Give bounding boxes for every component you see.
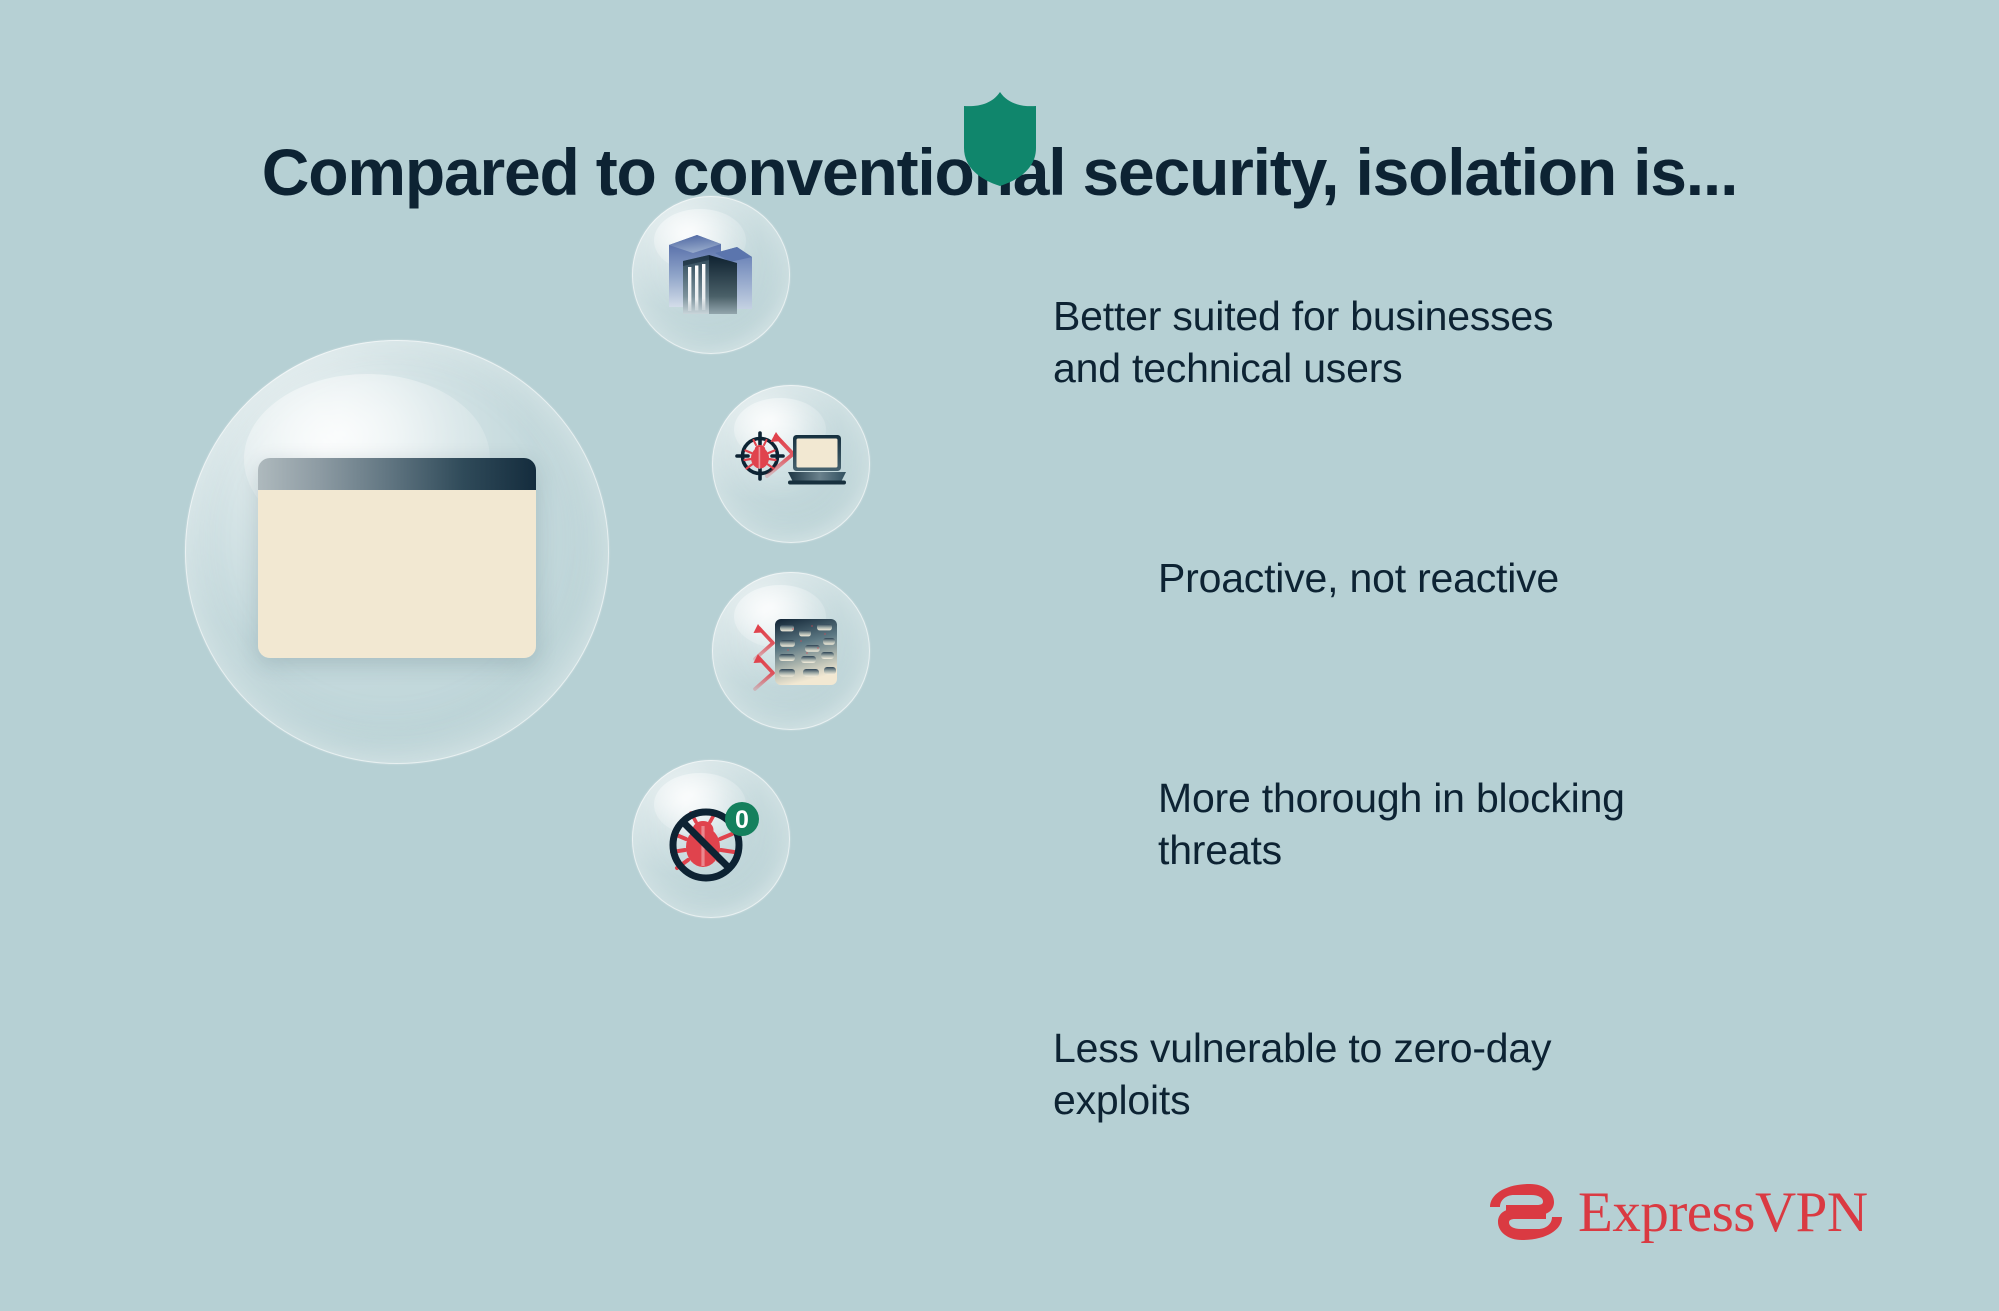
- item-label-proactive: Proactive, not reactive: [1158, 552, 1798, 604]
- browser-window-shield-icon: [258, 458, 536, 658]
- item-label-line-2: and technical users: [1053, 342, 1693, 394]
- item-label-more-thorough: More thorough in blocking threats: [1158, 772, 1798, 877]
- item-label-line-2: threats: [1158, 824, 1798, 876]
- item-label-zero-day: Less vulnerable to zero-day exploits: [1053, 1022, 1693, 1127]
- item-label-line-1: More thorough in blocking: [1158, 772, 1798, 824]
- bubble-more-thorough: [712, 572, 870, 730]
- zero-badge-value: 0: [735, 806, 749, 834]
- item-label-better-suited: Better suited for businesses and technic…: [1053, 290, 1693, 395]
- item-label-line-2: exploits: [1053, 1074, 1693, 1126]
- bubble-proactive: [712, 385, 870, 543]
- item-label-line-1: Proactive, not reactive: [1158, 552, 1798, 604]
- item-label-line-1: Less vulnerable to zero-day: [1053, 1022, 1693, 1074]
- browser-titlebar: [258, 458, 536, 490]
- expressvpn-logo[interactable]: ExpressVPN: [1490, 1172, 1868, 1252]
- bubble-zero-day: 0: [632, 760, 790, 918]
- expressvpn-mark-icon: [1490, 1176, 1562, 1248]
- expressvpn-wordmark: ExpressVPN: [1578, 1184, 1868, 1241]
- shield-icon: [959, 90, 1041, 188]
- bug-target-laptop-icon: [733, 406, 849, 522]
- infographic-canvas: Compared to conventional security, isola…: [0, 0, 1999, 1311]
- browser-viewport: [258, 490, 536, 658]
- firewall-blocking-icon: [733, 593, 849, 709]
- item-label-line-1: Better suited for businesses: [1053, 290, 1693, 342]
- no-bug-zero-day-icon: 0: [653, 781, 769, 897]
- office-buildings-icon: [653, 217, 769, 333]
- bubble-better-suited: [632, 196, 790, 354]
